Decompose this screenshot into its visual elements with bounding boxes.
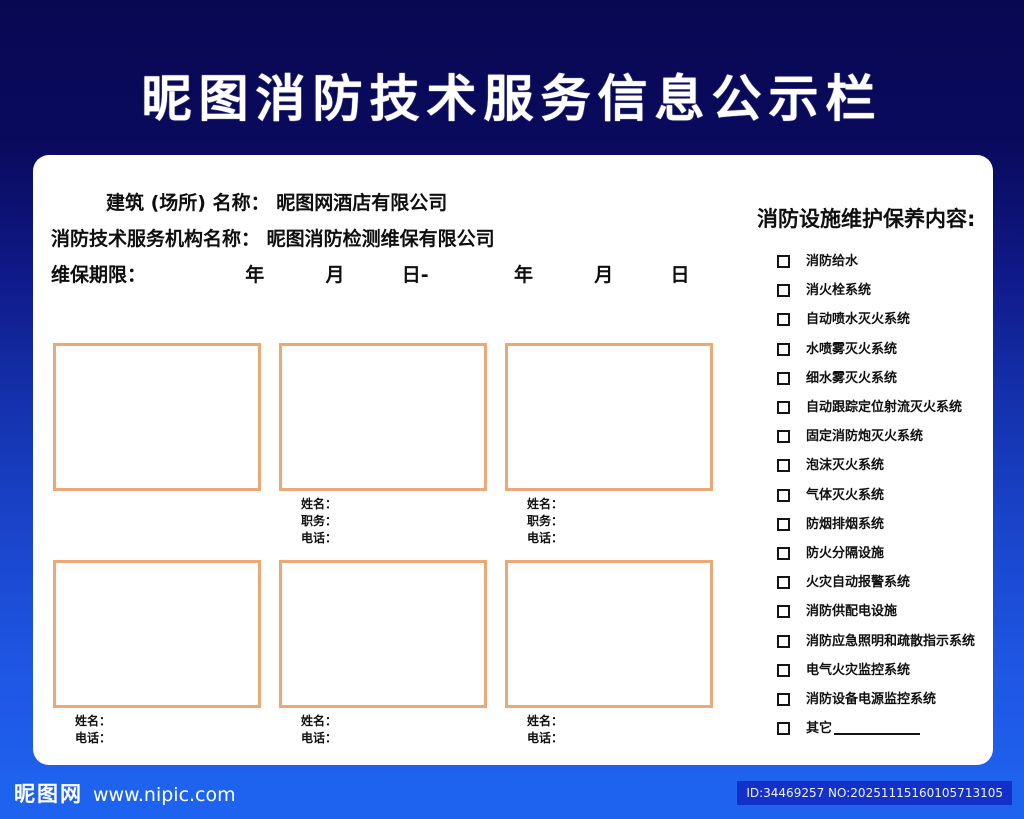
checkbox-icon[interactable] — [777, 722, 790, 735]
period-month-start: 月 — [326, 264, 345, 286]
photo-labels-3: 姓名： 职务： 电话： — [505, 491, 713, 552]
checkbox-icon[interactable] — [777, 255, 790, 268]
agency-name-line: 消防技术服务机构名称： 昵图消防检测维保有限公司 — [51, 221, 711, 257]
checkbox-icon[interactable] — [777, 635, 790, 648]
checkbox-icon[interactable] — [777, 605, 790, 618]
check-item[interactable]: 自动喷水灭火系统 — [777, 305, 997, 334]
maintenance-checklist: 消防给水消火栓系统自动喷水灭火系统水喷雾灭火系统细水雾灭火系统自动跟踪定位射流灭… — [777, 247, 997, 743]
check-item-label: 消防给水 — [806, 254, 858, 269]
check-item[interactable]: 消防给水 — [777, 247, 997, 276]
phone-label: 电话： — [301, 530, 487, 547]
photo-box-2[interactable] — [279, 343, 487, 491]
footer-brand: 昵图网 www.nipic.com — [14, 782, 236, 808]
check-item[interactable]: 消防设备电源监控系统 — [777, 685, 997, 714]
building-name-line: 建筑 (场所) 名称： 昵图网酒店有限公司 — [51, 185, 711, 221]
check-item-label: 自动喷水灭火系统 — [806, 312, 910, 327]
photo-row-1: 姓名： 职务： 电话： 姓名： 职务： 电话： — [53, 343, 713, 552]
check-item[interactable]: 消火栓系统 — [777, 276, 997, 305]
phone-label: 电话： — [301, 730, 487, 747]
photo-row-2: 姓名： 电话： 姓名： 电话： — [53, 560, 713, 753]
blank-fill-in-rule[interactable] — [834, 723, 920, 735]
check-item-label: 泡沫灭火系统 — [806, 458, 884, 473]
check-item[interactable]: 水喷雾灭火系统 — [777, 335, 997, 364]
checkbox-icon[interactable] — [777, 401, 790, 414]
photo-cell-2: 姓名： 职务： 电话： — [279, 343, 487, 552]
check-item-label: 细水雾灭火系统 — [806, 371, 897, 386]
checkbox-icon[interactable] — [777, 313, 790, 326]
check-item-label: 防烟排烟系统 — [806, 517, 884, 532]
checkbox-icon[interactable] — [777, 284, 790, 297]
checkbox-icon[interactable] — [777, 489, 790, 502]
check-item-label: 自动跟踪定位射流灭火系统 — [806, 400, 962, 415]
brand-name-cn: 昵图网 — [14, 782, 83, 807]
photo-labels-4: 姓名： 电话： — [53, 708, 261, 753]
check-item[interactable]: 泡沫灭火系统 — [777, 451, 997, 480]
check-item-label: 火灾自动报警系统 — [806, 575, 910, 590]
photo-cell-3: 姓名： 职务： 电话： — [505, 343, 713, 552]
period-month-end: 月 — [594, 264, 613, 286]
photo-box-1[interactable] — [53, 343, 261, 491]
photo-grid: 姓名： 职务： 电话： 姓名： 职务： 电话： — [53, 343, 713, 753]
page-title: 昵图消防技术服务信息公示栏 — [0, 68, 1024, 130]
checkbox-icon[interactable] — [777, 372, 790, 385]
checkbox-icon[interactable] — [777, 664, 790, 677]
photo-labels-1 — [53, 491, 261, 552]
checkbox-icon[interactable] — [777, 459, 790, 472]
checkbox-icon[interactable] — [777, 547, 790, 560]
check-item[interactable]: 消防供配电设施 — [777, 597, 997, 626]
name-label: 姓名： — [527, 496, 713, 513]
check-item[interactable]: 电气火灾监控系统 — [777, 656, 997, 685]
phone-label: 电话： — [527, 530, 713, 547]
content-card: 建筑 (场所) 名称： 昵图网酒店有限公司 消防技术服务机构名称： 昵图消防检测… — [33, 155, 993, 765]
name-label: 姓名： — [301, 496, 487, 513]
check-item[interactable]: 防火分隔设施 — [777, 539, 997, 568]
checkbox-icon[interactable] — [777, 518, 790, 531]
maintenance-period-line: 维保期限： 年 月 日- 年 月 日 — [51, 257, 711, 293]
period-label: 维保期限： — [51, 264, 146, 286]
check-item[interactable]: 气体灭火系统 — [777, 481, 997, 510]
check-item-label: 消防供配电设施 — [806, 604, 897, 619]
check-item-label: 消防设备电源监控系统 — [806, 692, 936, 707]
check-item-label: 防火分隔设施 — [806, 546, 884, 561]
check-item[interactable]: 自动跟踪定位射流灭火系统 — [777, 393, 997, 422]
phone-label: 电话： — [75, 730, 261, 747]
photo-box-3[interactable] — [505, 343, 713, 491]
position-label: 职务： — [527, 513, 713, 530]
phone-label: 电话： — [527, 730, 713, 747]
check-item-label: 消防应急照明和疏散指示系统 — [806, 634, 975, 649]
photo-cell-1 — [53, 343, 261, 552]
photo-cell-6: 姓名： 电话： — [505, 560, 713, 753]
name-label: 姓名： — [301, 713, 487, 730]
checkbox-icon[interactable] — [777, 693, 790, 706]
check-item[interactable]: 固定消防炮灭火系统 — [777, 422, 997, 451]
footer-bar: 昵图网 www.nipic.com ID:34469257 NO:2025111… — [0, 772, 1024, 819]
checkbox-icon[interactable] — [777, 430, 790, 443]
checkbox-icon[interactable] — [777, 576, 790, 589]
photo-box-5[interactable] — [279, 560, 487, 708]
period-year-end: 年 — [514, 264, 533, 286]
checkbox-icon[interactable] — [777, 343, 790, 356]
check-item-label: 其它 — [806, 721, 920, 736]
info-block: 建筑 (场所) 名称： 昵图网酒店有限公司 消防技术服务机构名称： 昵图消防检测… — [51, 185, 711, 293]
check-item-label: 气体灭火系统 — [806, 488, 884, 503]
brand-url: www.nipic.com — [93, 783, 236, 808]
left-column: 建筑 (场所) 名称： 昵图网酒店有限公司 消防技术服务机构名称： 昵图消防检测… — [33, 155, 723, 765]
period-day-end: 日 — [670, 264, 689, 286]
check-item[interactable]: 细水雾灭火系统 — [777, 364, 997, 393]
check-item-label: 电气火灾监控系统 — [806, 663, 910, 678]
check-item[interactable]: 消防应急照明和疏散指示系统 — [777, 626, 997, 655]
checklist-title: 消防设施维护保养内容: — [757, 203, 975, 233]
period-day-start: 日- — [402, 264, 429, 286]
period-year-start: 年 — [245, 264, 264, 286]
photo-cell-5: 姓名： 电话： — [279, 560, 487, 753]
check-item[interactable]: 其它 — [777, 714, 997, 743]
poster-root: 昵图消防技术服务信息公示栏 建筑 (场所) 名称： 昵图网酒店有限公司 消防技术… — [0, 0, 1024, 819]
photo-cell-4: 姓名： 电话： — [53, 560, 261, 753]
check-item[interactable]: 防烟排烟系统 — [777, 510, 997, 539]
check-item[interactable]: 火灾自动报警系统 — [777, 568, 997, 597]
photo-labels-5: 姓名： 电话： — [279, 708, 487, 753]
photo-labels-2: 姓名： 职务： 电话： — [279, 491, 487, 552]
name-label: 姓名： — [75, 713, 261, 730]
photo-labels-6: 姓名： 电话： — [505, 708, 713, 753]
check-item-label: 固定消防炮灭火系统 — [806, 429, 923, 444]
right-column: 消防设施维护保养内容: 消防给水消火栓系统自动喷水灭火系统水喷雾灭火系统细水雾灭… — [723, 155, 993, 765]
image-id-badge: ID:34469257 NO:20251115160105713105 — [737, 781, 1012, 805]
check-item-label: 水喷雾灭火系统 — [806, 342, 897, 357]
name-label: 姓名： — [527, 713, 713, 730]
photo-box-4[interactable] — [53, 560, 261, 708]
check-item-label: 消火栓系统 — [806, 283, 871, 298]
photo-box-6[interactable] — [505, 560, 713, 708]
position-label: 职务： — [301, 513, 487, 530]
